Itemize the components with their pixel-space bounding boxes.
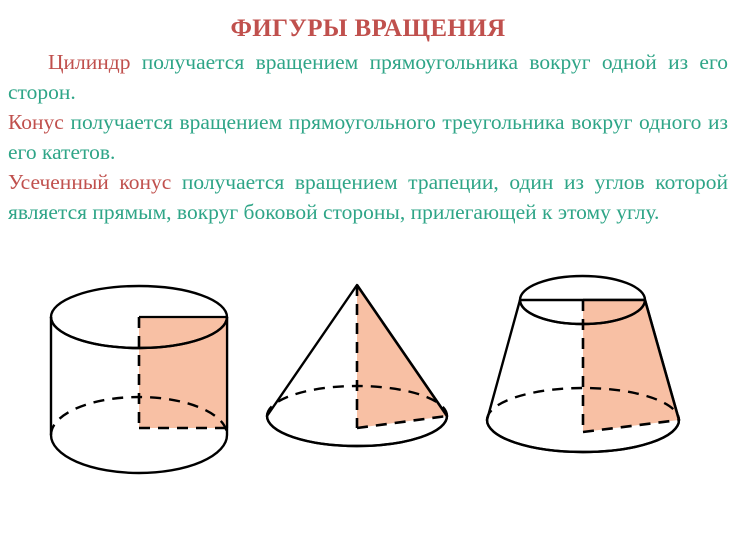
figure-cylinder — [51, 286, 227, 473]
term-cone: Конус — [8, 110, 64, 134]
term-cylinder: Цилиндр — [48, 50, 130, 74]
paragraph-cone-rest: получается вращением прямоугольного треу… — [8, 110, 728, 164]
figures-illustration — [0, 262, 736, 492]
page-title: ФИГУРЫ ВРАЩЕНИЯ — [0, 15, 736, 43]
figure-cone — [267, 285, 447, 446]
paragraph-cylinder: Цилиндр получается вращением прямоугольн… — [8, 47, 728, 107]
term-truncated-cone: Усеченный конус — [8, 170, 171, 194]
paragraph-truncated-cone: Усеченный конус получается вращением тра… — [8, 167, 728, 227]
figures-row — [0, 262, 736, 492]
slide-canvas: ФИГУРЫ ВРАЩЕНИЯ Цилиндр получается враще… — [0, 0, 736, 552]
paragraph-cone: Конус получается вращением прямоугольног… — [8, 107, 728, 167]
body-text-block: Цилиндр получается вращением прямоугольн… — [8, 47, 728, 227]
figure-truncated-cone — [487, 276, 679, 452]
